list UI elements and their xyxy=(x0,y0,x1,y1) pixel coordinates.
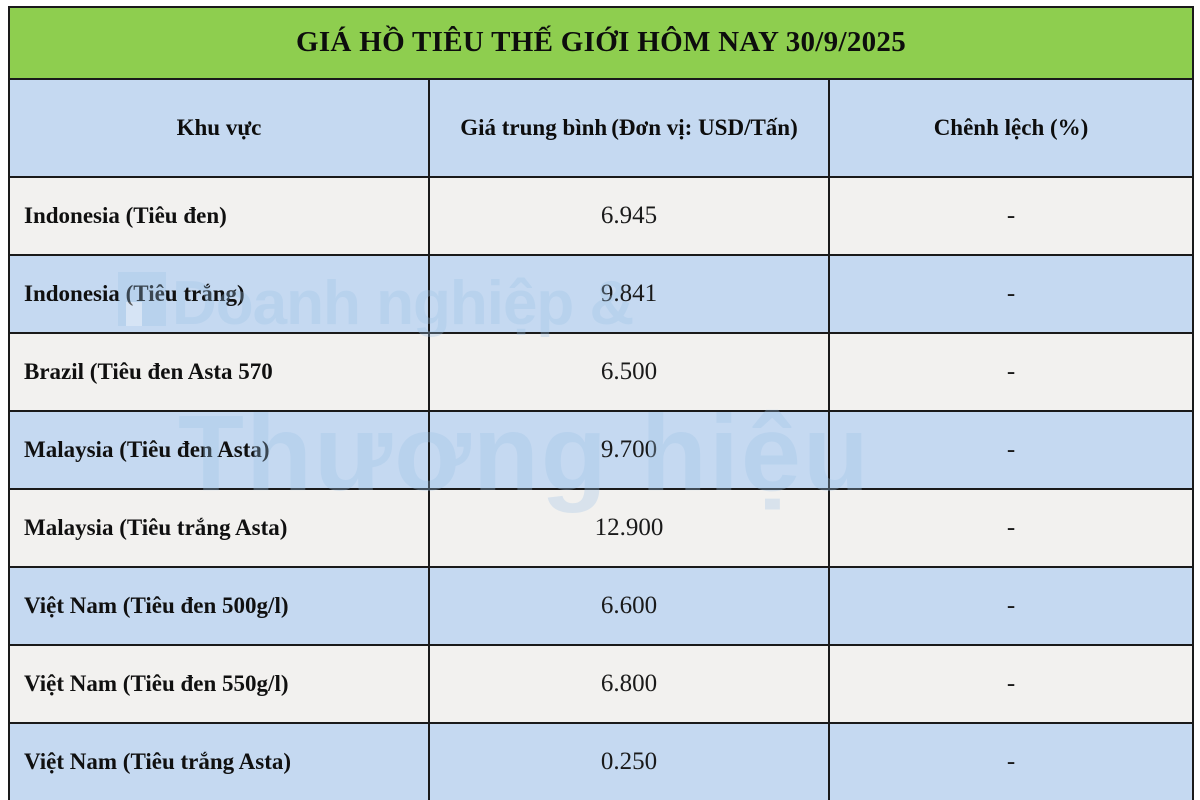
cell-price: 12.900 xyxy=(429,489,829,567)
cell-delta: - xyxy=(829,333,1193,411)
cell-region: Malaysia (Tiêu trắng Asta) xyxy=(9,489,429,567)
cell-price: 9.700 xyxy=(429,411,829,489)
table-header-row: Khu vực Giá trung bình (Đơn vị: USD/Tấn)… xyxy=(9,79,1193,177)
cell-region: Việt Nam (Tiêu đen 550g/l) xyxy=(9,645,429,723)
cell-region: Brazil (Tiêu đen Asta 570 xyxy=(9,333,429,411)
cell-region: Indonesia (Tiêu trắng) xyxy=(9,255,429,333)
cell-region: Indonesia (Tiêu đen) xyxy=(9,177,429,255)
table-container: GIÁ HỒ TIÊU THẾ GIỚI HÔM NAY 30/9/2025 K… xyxy=(8,6,1192,800)
cell-region: Malaysia (Tiêu đen Asta) xyxy=(9,411,429,489)
cell-delta: - xyxy=(829,489,1193,567)
page-title-cell: GIÁ HỒ TIÊU THẾ GIỚI HÔM NAY 30/9/2025 xyxy=(9,7,1193,79)
table-row: Malaysia (Tiêu trắng Asta) 12.900 - xyxy=(9,489,1193,567)
pepper-price-table: GIÁ HỒ TIÊU THẾ GIỚI HÔM NAY 30/9/2025 K… xyxy=(8,6,1194,800)
column-header-price: Giá trung bình (Đơn vị: USD/Tấn) xyxy=(429,79,829,177)
cell-delta: - xyxy=(829,177,1193,255)
cell-region: Việt Nam (Tiêu trắng Asta) xyxy=(9,723,429,800)
cell-price: 0.250 xyxy=(429,723,829,800)
cell-price: 6.600 xyxy=(429,567,829,645)
table-row: Indonesia (Tiêu đen) 6.945 - xyxy=(9,177,1193,255)
table-row: Việt Nam (Tiêu trắng Asta) 0.250 - xyxy=(9,723,1193,800)
table-row: Malaysia (Tiêu đen Asta) 9.700 - xyxy=(9,411,1193,489)
cell-price: 9.841 xyxy=(429,255,829,333)
cell-price: 6.945 xyxy=(429,177,829,255)
table-row: Brazil (Tiêu đen Asta 570 6.500 - xyxy=(9,333,1193,411)
column-header-region: Khu vực xyxy=(9,79,429,177)
table-row: Việt Nam (Tiêu đen 500g/l) 6.600 - xyxy=(9,567,1193,645)
cell-price: 6.800 xyxy=(429,645,829,723)
cell-delta: - xyxy=(829,411,1193,489)
column-header-region-label: Khu vực xyxy=(177,115,262,140)
column-header-delta: Chênh lệch (%) xyxy=(829,79,1193,177)
table-row: Indonesia (Tiêu trắng) 9.841 - xyxy=(9,255,1193,333)
cell-delta: - xyxy=(829,645,1193,723)
table-row: Việt Nam (Tiêu đen 550g/l) 6.800 - xyxy=(9,645,1193,723)
cell-delta: - xyxy=(829,567,1193,645)
column-header-delta-label: Chênh lệch (%) xyxy=(934,115,1089,140)
cell-region: Việt Nam (Tiêu đen 500g/l) xyxy=(9,567,429,645)
column-header-price-unit: (Đơn vị: USD/Tấn) xyxy=(611,115,798,140)
column-header-price-label: Giá trung bình xyxy=(460,115,607,140)
cell-delta: - xyxy=(829,255,1193,333)
title-row: GIÁ HỒ TIÊU THẾ GIỚI HÔM NAY 30/9/2025 xyxy=(9,7,1193,79)
cell-price: 6.500 xyxy=(429,333,829,411)
pepper-price-table-page: Doanh nghiệp & Thương hiệu GIÁ HỒ TIÊU T… xyxy=(0,0,1200,800)
page-title: GIÁ HỒ TIÊU THẾ GIỚI HÔM NAY 30/9/2025 xyxy=(296,26,906,58)
cell-delta: - xyxy=(829,723,1193,800)
